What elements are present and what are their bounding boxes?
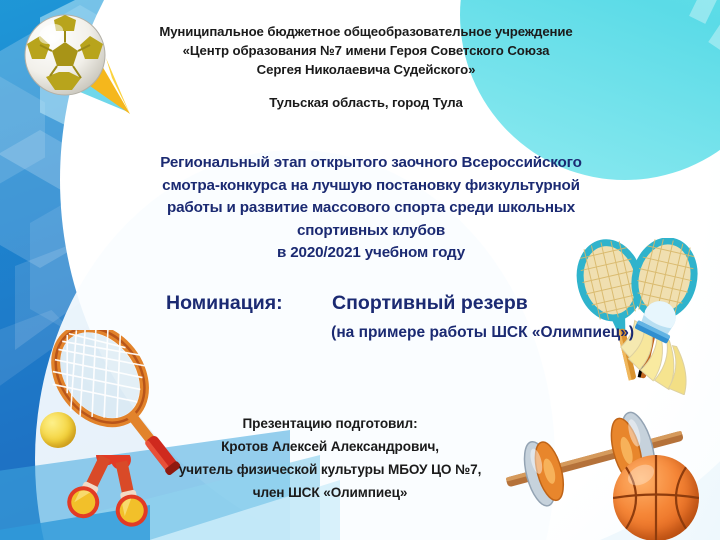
author-line-3: учитель физической культуры МБОУ ЦО №7, [150,458,510,481]
title-line-2: смотра-конкурса на лучшую постановку физ… [136,175,606,198]
slide-main-title: Региональный этап открытого заочного Все… [136,152,606,265]
nomination-block: Номинация: Спортивный резерв (на примере… [140,290,640,346]
author-block: Презентацию подготовил: Кротов Алексей А… [150,412,510,504]
presentation-slide: Муниципальное бюджетное общеобразователь… [0,0,720,540]
author-line-4: член ШСК «Олимпиец» [150,481,510,504]
title-line-1: Региональный этап открытого заочного Все… [136,152,606,175]
institution-header: Муниципальное бюджетное общеобразователь… [126,22,606,112]
soccer-ball-icon [24,14,106,96]
basketball-icon [613,455,699,540]
header-line-3: Сергея Николаевича Судейского» [126,60,606,79]
title-academic-year: в 2020/2021 учебном году [136,242,606,265]
nomination-note: (на примере работы ШСК «Олимпиец») [140,319,640,346]
nomination-label: Номинация: [166,290,283,317]
cyan-ray [689,0,720,24]
title-line-3: работы и развитие массового спорта среди… [136,197,606,220]
author-line-1: Презентацию подготовил: [150,412,510,435]
tennis-ball-icon [40,412,76,448]
header-line-1: Муниципальное бюджетное общеобразователь… [126,22,606,41]
header-line-2: «Центр образования №7 имени Героя Советс… [126,41,606,60]
author-line-2: Кротов Алексей Александрович, [150,435,510,458]
nomination-value: Спортивный резерв [332,290,528,317]
header-spacer [126,79,606,93]
gymnastics-clubs-icon [60,455,160,530]
header-location: Тульская область, город Тула [126,93,606,112]
title-line-4: спортивных клубов [136,220,606,243]
